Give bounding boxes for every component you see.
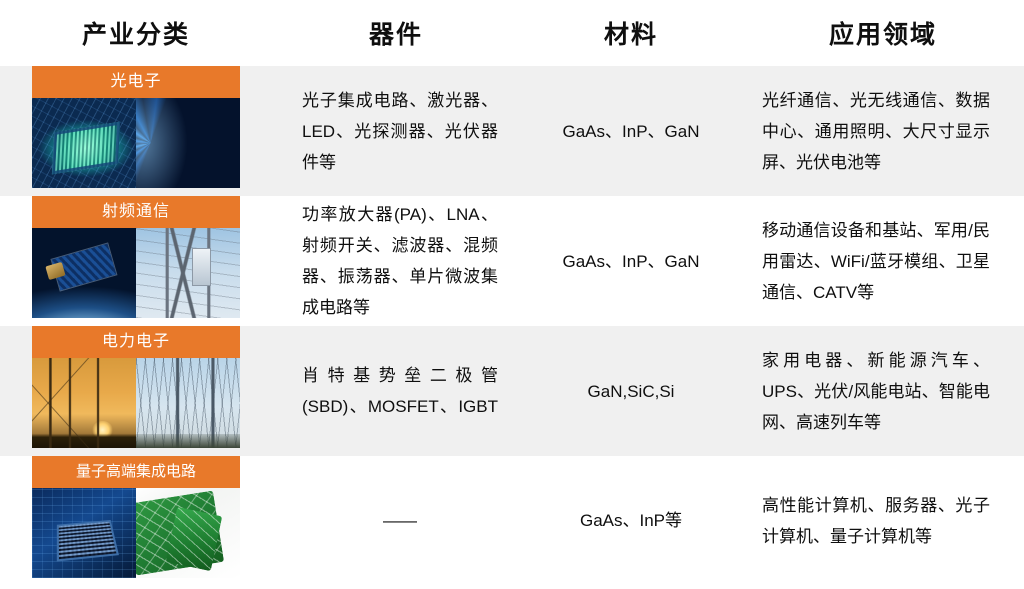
table-row: 量子高端集成电路 —— GaAs、InP等 高性能计算机、服务器、光子计算机、量… bbox=[0, 456, 1024, 585]
devices-text: 功率放大器(PA)、LNA、射频开关、滤波器、混频器、振荡器、单片微波集成电路等 bbox=[302, 199, 498, 323]
table-row: 光电子 光子集成电路、激光器、LED、光探测器、光伏器件等 GaAs、InP、G… bbox=[0, 66, 1024, 196]
optical-fiber-light-photo bbox=[136, 98, 240, 188]
power-pylon-photo bbox=[136, 358, 240, 448]
category-cell: 光电子 bbox=[0, 66, 272, 196]
thumbnail-images bbox=[32, 358, 240, 448]
devices-text: —— bbox=[302, 511, 498, 531]
category-label: 电力电子 bbox=[32, 326, 240, 358]
category-cell: 射频通信 bbox=[0, 196, 272, 326]
thumbnail-images bbox=[32, 98, 240, 188]
applications-text: 光纤通信、光无线通信、数据中心、通用照明、大尺寸显示屏、光伏电池等 bbox=[762, 85, 990, 178]
table-row: 射频通信 功率放大器(PA)、LNA、射频开关、滤波器、混频器、振荡器、单片微波… bbox=[0, 196, 1024, 326]
devices-text: 肖特基势垒二极管(SBD)、MOSFET、IGBT bbox=[302, 360, 498, 422]
applications-text: 高性能计算机、服务器、光子计算机、量子计算机等 bbox=[762, 490, 990, 552]
bga-chip-photo bbox=[32, 488, 136, 578]
category-label: 光电子 bbox=[32, 66, 240, 98]
column-header-materials: 材料 bbox=[520, 15, 742, 51]
materials-cell: GaAs、InP等 bbox=[520, 456, 742, 585]
table-row: 电力电子 肖特基势垒二极管(SBD)、MOSFET、IGBT GaN,SiC,S… bbox=[0, 326, 1024, 456]
table-body: 光电子 光子集成电路、激光器、LED、光探测器、光伏器件等 GaAs、InP、G… bbox=[0, 66, 1024, 585]
devices-text: 光子集成电路、激光器、LED、光探测器、光伏器件等 bbox=[302, 85, 498, 178]
materials-text: GaN,SiC,Si bbox=[588, 376, 675, 407]
table-header-row: 产业分类 器件 材料 应用领域 bbox=[0, 0, 1024, 66]
category-cell: 量子高端集成电路 bbox=[0, 456, 272, 585]
devices-cell: 肖特基势垒二极管(SBD)、MOSFET、IGBT bbox=[272, 326, 520, 456]
materials-text: GaAs、InP、GaN bbox=[563, 246, 700, 277]
wind-turbine-sunset-photo bbox=[32, 358, 136, 448]
industry-classification-table: 产业分类 器件 材料 应用领域 光电子 光子集成电路、激光器、LED、光探测器、… bbox=[0, 0, 1024, 589]
materials-text: GaAs、InP等 bbox=[580, 505, 682, 536]
materials-text: GaAs、InP、GaN bbox=[563, 116, 700, 147]
antenna-tower-photo bbox=[136, 228, 240, 318]
applications-cell: 家用电器、新能源汽车、UPS、光伏/风能电站、智能电网、高速列车等 bbox=[742, 326, 1024, 456]
photonic-chip-photo bbox=[32, 98, 136, 188]
applications-cell: 移动通信设备和基站、军用/民用雷达、WiFi/蓝牙模组、卫星通信、CATV等 bbox=[742, 196, 1024, 326]
category-label: 射频通信 bbox=[32, 196, 240, 228]
category-thumbnail: 量子高端集成电路 bbox=[32, 456, 240, 578]
applications-text: 家用电器、新能源汽车、UPS、光伏/风能电站、智能电网、高速列车等 bbox=[762, 345, 990, 438]
green-pcb-photo bbox=[136, 488, 240, 578]
applications-text: 移动通信设备和基站、军用/民用雷达、WiFi/蓝牙模组、卫星通信、CATV等 bbox=[762, 215, 990, 308]
thumbnail-images bbox=[32, 488, 240, 578]
category-thumbnail: 电力电子 bbox=[32, 326, 240, 448]
satellite-photo bbox=[32, 228, 136, 318]
column-header-devices: 器件 bbox=[272, 15, 520, 51]
category-thumbnail: 射频通信 bbox=[32, 196, 240, 318]
devices-cell: 光子集成电路、激光器、LED、光探测器、光伏器件等 bbox=[272, 66, 520, 196]
column-header-applications: 应用领域 bbox=[742, 15, 1024, 51]
category-cell: 电力电子 bbox=[0, 326, 272, 456]
column-header-category: 产业分类 bbox=[0, 15, 272, 51]
materials-cell: GaAs、InP、GaN bbox=[520, 66, 742, 196]
category-label: 量子高端集成电路 bbox=[32, 456, 240, 488]
applications-cell: 光纤通信、光无线通信、数据中心、通用照明、大尺寸显示屏、光伏电池等 bbox=[742, 66, 1024, 196]
thumbnail-images bbox=[32, 228, 240, 318]
devices-cell: —— bbox=[272, 456, 520, 585]
category-thumbnail: 光电子 bbox=[32, 66, 240, 188]
applications-cell: 高性能计算机、服务器、光子计算机、量子计算机等 bbox=[742, 456, 1024, 585]
materials-cell: GaAs、InP、GaN bbox=[520, 196, 742, 326]
devices-cell: 功率放大器(PA)、LNA、射频开关、滤波器、混频器、振荡器、单片微波集成电路等 bbox=[272, 196, 520, 326]
materials-cell: GaN,SiC,Si bbox=[520, 326, 742, 456]
